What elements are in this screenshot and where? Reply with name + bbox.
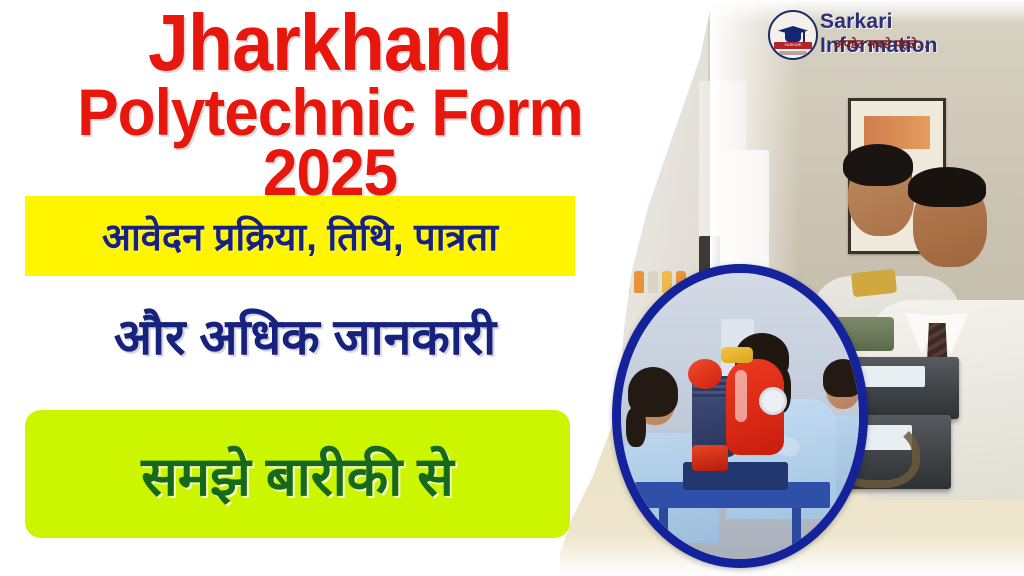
- inset-student-right-hair: [823, 359, 863, 397]
- student-hair: [843, 144, 913, 186]
- watermark-tagline: अपडेट सबसे पहले...: [834, 35, 928, 52]
- engine-yellow-cap: [721, 347, 753, 363]
- engine-red-foot: [692, 445, 728, 471]
- engine-tank-highlight: [735, 370, 747, 422]
- yellow-band-text: आवेदन प्रक्रिया, तिथि, पात्रता: [102, 210, 498, 262]
- engine-red-housing: [688, 359, 722, 389]
- headline-line-2: Polytechnic Form 2025: [20, 82, 640, 203]
- inset-workbench-leg: [659, 508, 668, 554]
- page-title: Jharkhand Polytechnic Form 2025: [0, 6, 660, 203]
- subheading-text: और अधिक जानकारी: [114, 301, 496, 369]
- graduation-cap-icon: SARKARI INFORMATION: [768, 10, 818, 60]
- green-callout-band: समझे बारीकी से: [25, 410, 570, 538]
- subheading-line: और अधिक जानकारी: [25, 292, 585, 378]
- inset-workbench-leg: [792, 508, 801, 554]
- logo-ribbon: SARKARI INFORMATION: [774, 42, 812, 49]
- mortarboard-base: [785, 33, 801, 42]
- instructor-hair: [908, 167, 986, 207]
- green-band-text: समझे बारीकी से: [141, 437, 453, 511]
- headline-line-1: Jharkhand: [26, 6, 633, 80]
- watermark-logo: SARKARI INFORMATION Sarkari Information …: [768, 8, 994, 70]
- circular-photo-inset: [612, 264, 868, 568]
- logo-underline: [779, 51, 807, 55]
- poster-canvas: SARKARI INFORMATION Sarkari Information …: [0, 0, 1024, 576]
- yellow-highlight-band: आवेदन प्रक्रिया, तिथि, पात्रता: [25, 196, 575, 276]
- inset-student-left-hair-side: [626, 407, 646, 447]
